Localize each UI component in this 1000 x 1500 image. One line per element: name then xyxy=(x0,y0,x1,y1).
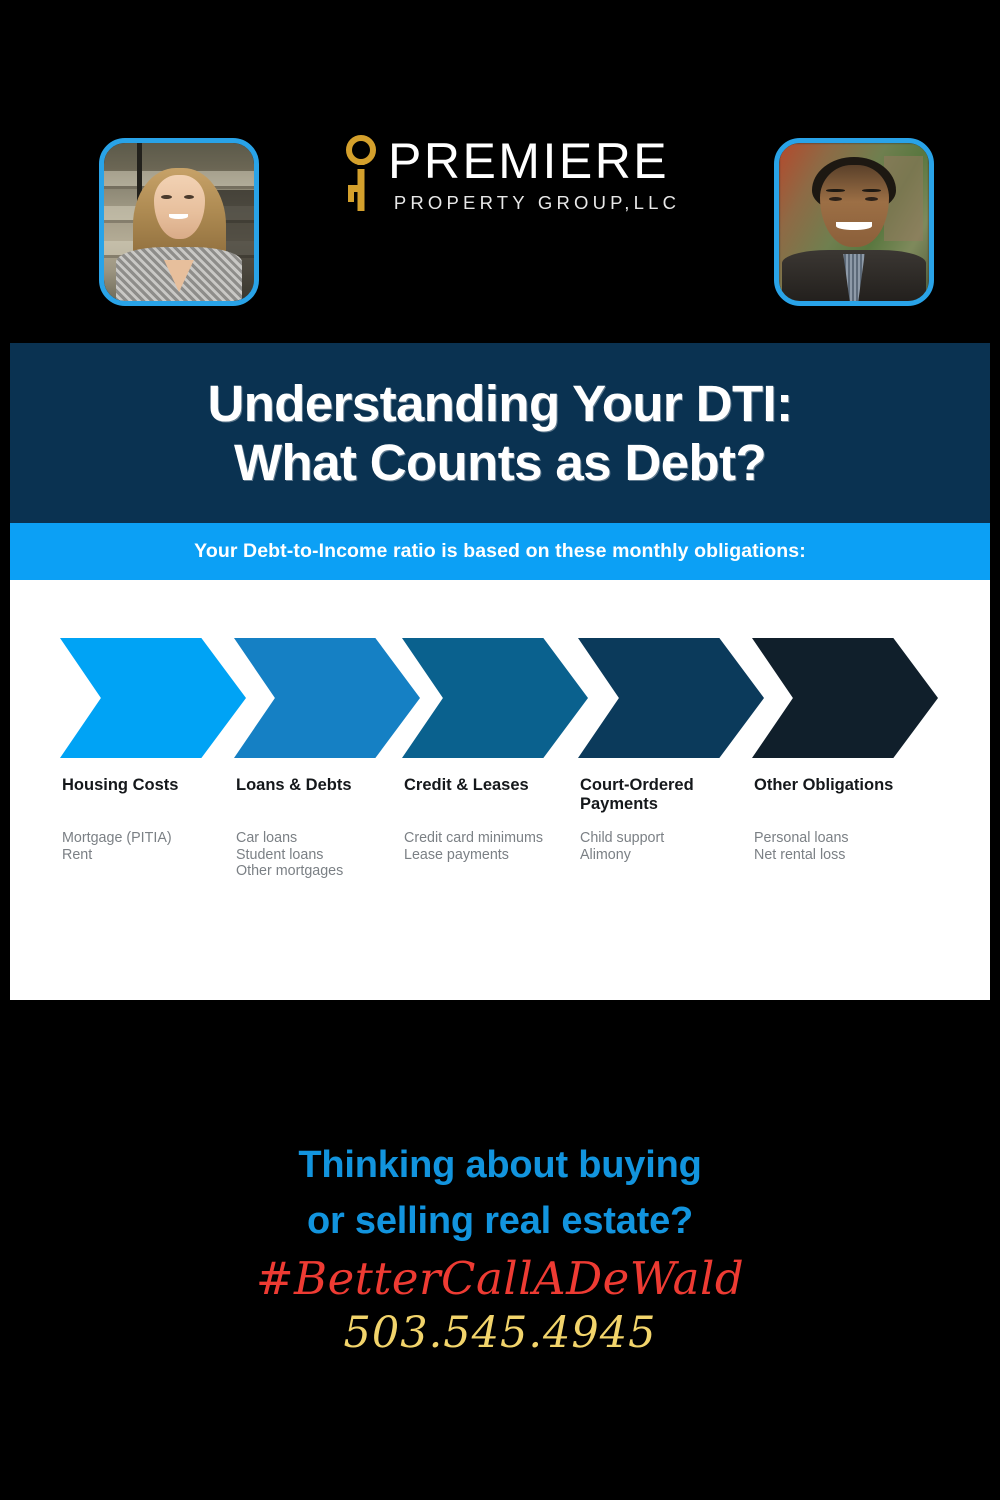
step-title: Loans & Debts xyxy=(236,776,414,795)
step-title: Housing Costs xyxy=(62,776,240,795)
obligations-flow: Housing Costs Mortgage (PITIA)Rent Loans… xyxy=(10,580,990,880)
step-items: Credit card minimumsLease payments xyxy=(404,830,590,863)
step-item: Car loans xyxy=(236,830,422,847)
step-item: Alimony xyxy=(580,847,766,864)
chevron-loans-debts xyxy=(234,638,420,758)
infographic-page: PREMIERE PROPERTY GROUP,LLC Understandin… xyxy=(0,0,1000,1500)
key-icon xyxy=(344,135,378,215)
subtitle-text: Your Debt-to-Income ratio is based on th… xyxy=(194,540,806,563)
chevron-other-obligations xyxy=(752,638,938,758)
cta-headline-line-2: or selling real estate? xyxy=(0,1193,1000,1249)
cta-phone-number[interactable]: 503.545.4945 xyxy=(0,1308,1000,1358)
step-item: Mortgage (PITIA) xyxy=(62,830,248,847)
brand-name: PREMIERE xyxy=(388,130,688,192)
agent-photo-right xyxy=(774,138,934,306)
step-item: Child support xyxy=(580,830,766,847)
step-title: Other Obligations xyxy=(754,776,932,795)
step-title: Credit & Leases xyxy=(404,776,582,795)
step-item: Student loans xyxy=(236,847,422,864)
step-item: Credit card minimums xyxy=(404,830,590,847)
chevron-court-ordered-payments xyxy=(578,638,764,758)
chevron-credit-leases xyxy=(402,638,588,758)
cta-hashtag: #BetterCallADeWald xyxy=(0,1252,1000,1305)
page-title-line-1: Understanding Your DTI: xyxy=(208,374,793,433)
step-item: Net rental loss xyxy=(754,847,940,864)
step-title: Court-Ordered Payments xyxy=(580,776,758,814)
chevron-housing-costs xyxy=(60,638,246,758)
agent-photo-left xyxy=(99,138,259,306)
brand-subtitle: PROPERTY GROUP,LLC xyxy=(388,192,688,214)
step-items: Child supportAlimony xyxy=(580,830,766,863)
page-title-line-2: What Counts as Debt? xyxy=(234,433,766,492)
step-items: Car loansStudent loansOther mortgages xyxy=(236,830,422,880)
step-item: Lease payments xyxy=(404,847,590,864)
subtitle-band: Your Debt-to-Income ratio is based on th… xyxy=(10,523,990,580)
step-items: Mortgage (PITIA)Rent xyxy=(62,830,248,863)
cta-headline: Thinking about buying or selling real es… xyxy=(0,1137,1000,1249)
call-to-action-section: Thinking about buying or selling real es… xyxy=(0,1000,1000,1500)
step-item: Personal loans xyxy=(754,830,940,847)
cta-headline-line-1: Thinking about buying xyxy=(0,1137,1000,1193)
title-band: Understanding Your DTI: What Counts as D… xyxy=(10,343,990,523)
step-item: Other mortgages xyxy=(236,863,422,880)
step-items: Personal loansNet rental loss xyxy=(754,830,940,863)
infographic-card: Understanding Your DTI: What Counts as D… xyxy=(10,343,990,1000)
header-bar: PREMIERE PROPERTY GROUP,LLC xyxy=(0,0,1000,343)
premiere-property-group-logo: PREMIERE PROPERTY GROUP,LLC xyxy=(340,130,690,225)
step-item: Rent xyxy=(62,847,248,864)
